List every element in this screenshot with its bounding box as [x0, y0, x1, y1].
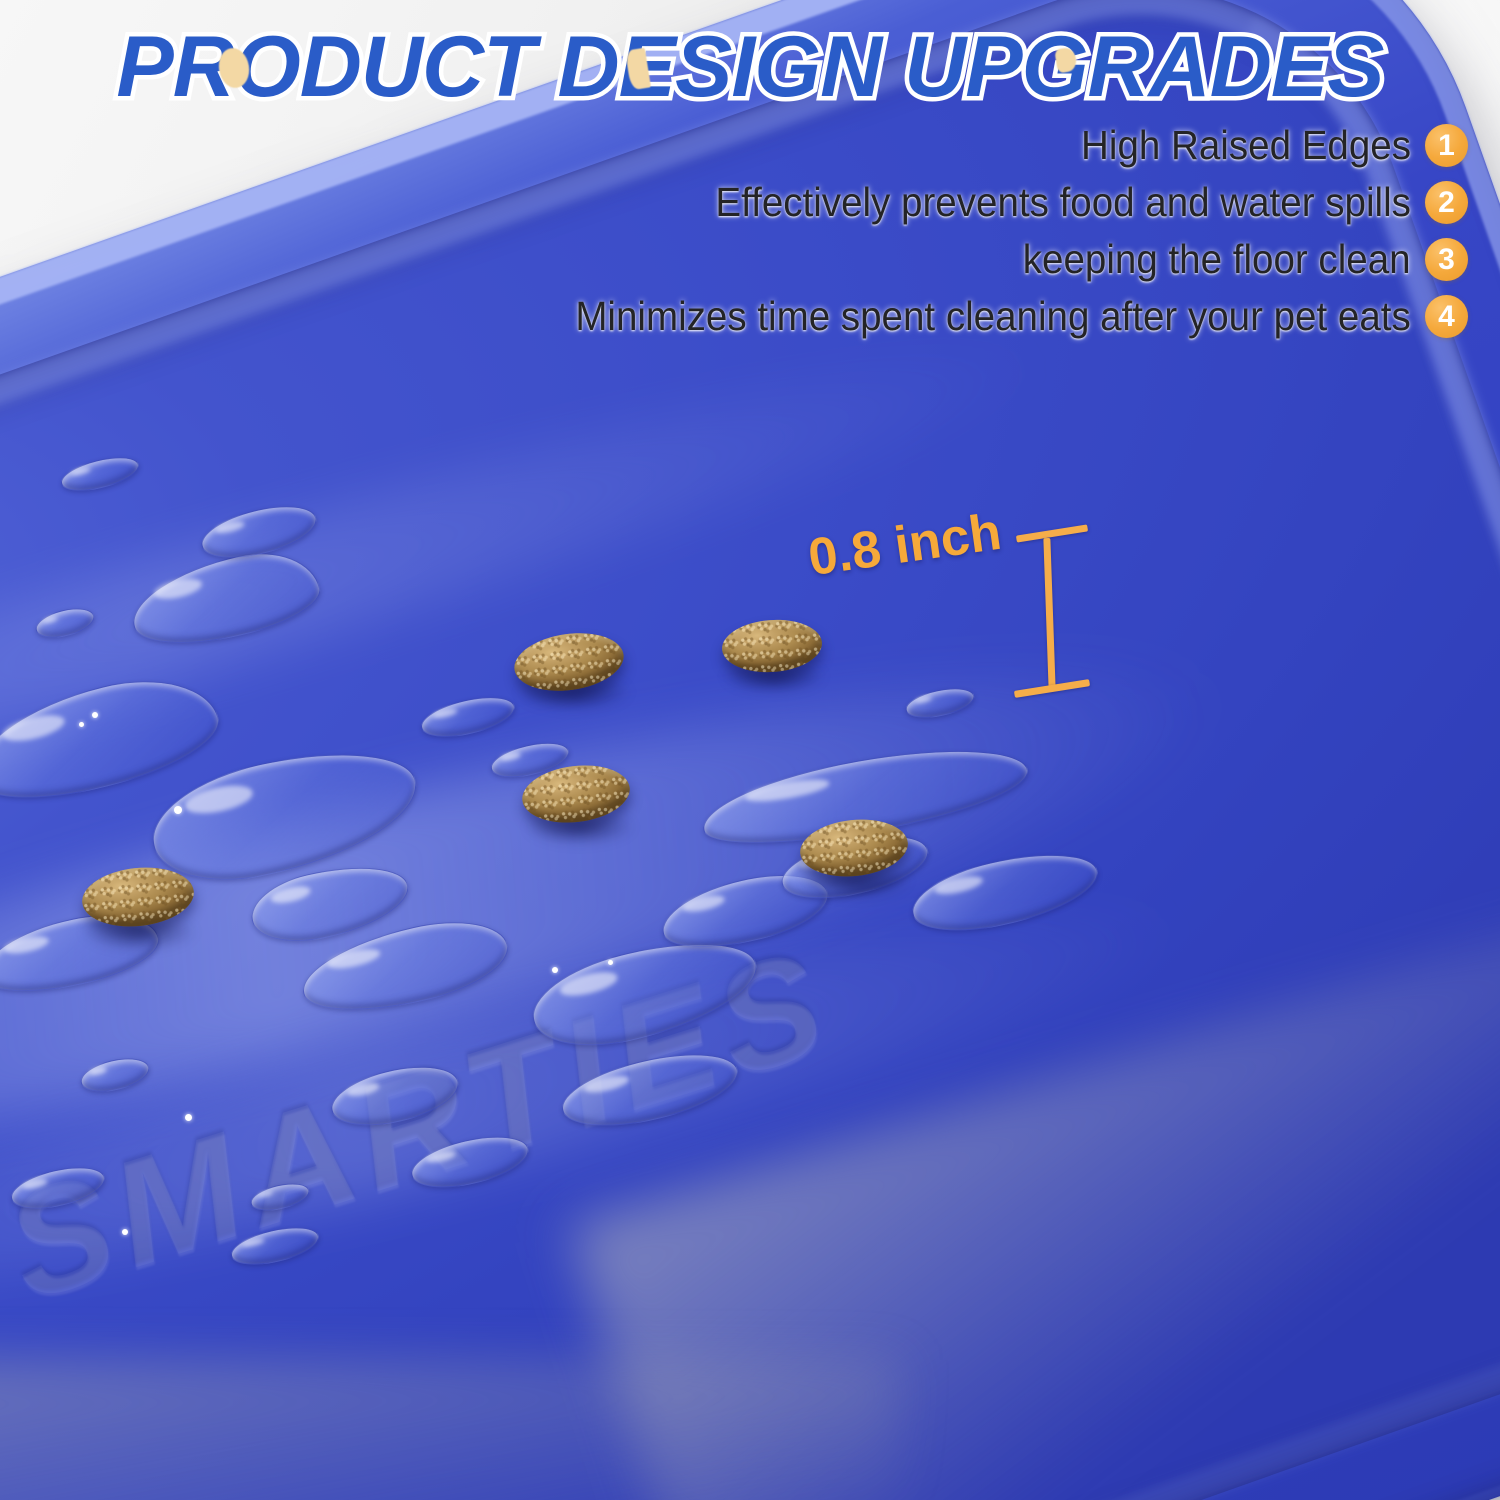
specular-highlight: [92, 712, 98, 718]
status-badge: 3: [1425, 238, 1468, 281]
specular-highlight: [608, 960, 613, 965]
feature-label: Minimizes time spent cleaning after your…: [576, 293, 1411, 340]
specular-highlight: [185, 1114, 192, 1121]
list-item: Minimizes time spent cleaning after your…: [522, 293, 1468, 340]
specular-highlight: [122, 1229, 128, 1235]
page-title-text: PRODUCT DESIGN UPGRADES: [116, 19, 1383, 115]
list-item: High Raised Edges 1: [1060, 122, 1468, 169]
feature-label: High Raised Edges: [1081, 122, 1411, 169]
status-badge: 2: [1425, 181, 1468, 224]
feature-label: Effectively prevents food and water spil…: [715, 179, 1411, 226]
specular-highlight: [174, 806, 182, 814]
floor-shadow: [0, 1360, 900, 1500]
specular-highlight: [79, 722, 84, 727]
status-badge: 1: [1425, 124, 1468, 167]
feature-label: keeping the floor clean: [1023, 236, 1411, 283]
list-item: keeping the floor clean 3: [998, 236, 1468, 283]
feature-list: High Raised Edges 1 Effectively prevents…: [522, 122, 1468, 340]
list-item: Effectively prevents food and water spil…: [671, 179, 1468, 226]
specular-highlight: [552, 967, 558, 973]
status-badge: 4: [1425, 295, 1468, 338]
